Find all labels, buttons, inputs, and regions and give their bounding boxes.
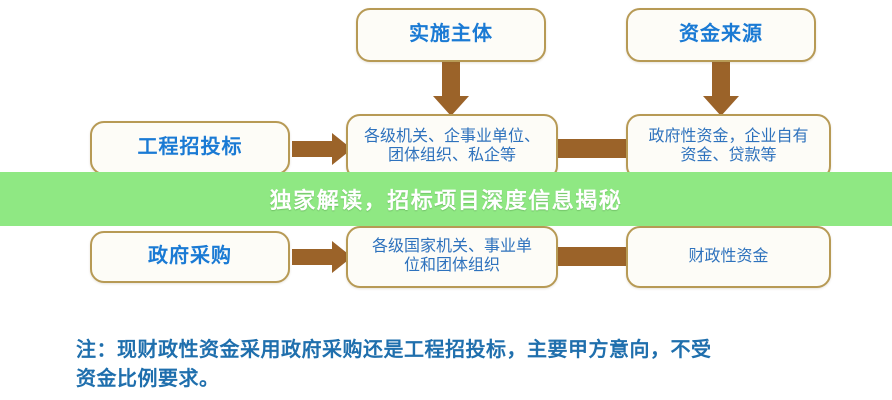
overlay-banner-text: 独家解读，招标项目深度信息揭秘 [270,183,623,215]
node-bidding-subjects-label: 各级机关、企事业单位、 团体组织、私企等 [358,128,546,166]
node-engineering-bidding-label: 工程招投标 [138,136,243,160]
node-bidding-funds-label: 政府性资金，企业自有 资金、贷款等 [642,128,814,166]
node-bidding-funds: 政府性资金，企业自有 资金、贷款等 [626,114,831,180]
node-procurement-subjects: 各级国家机关、事业单 位和团体组织 [346,226,558,288]
arrow-shaft [292,249,334,265]
node-funding-source-header-label: 资金来源 [679,23,763,47]
node-bidding-funds-line1: 政府性资金，企业自有 [648,128,808,145]
node-procurement-subjects-line1: 各级国家机关、事业单 [372,238,532,255]
node-procurement-subjects-label: 各级国家机关、事业单 位和团体组织 [366,238,538,276]
node-procurement-funds-label: 财政性资金 [682,248,774,267]
node-government-procurement: 政府采购 [90,231,290,283]
node-procurement-funds: 财政性资金 [626,226,831,288]
footer-note-line2: 资金比例要求。 [76,365,866,394]
diagram-canvas: 实施主体 资金来源 工程招投标 各级机关、企事业单位、 团体组织、私企等 政府性… [0,0,892,400]
node-bidding-subjects: 各级机关、企事业单位、 团体组织、私企等 [346,114,558,180]
arrow-shaft [292,141,334,157]
node-implementing-body-header-label: 实施主体 [409,23,493,47]
arrow-head [703,96,739,116]
footer-note-line1: 注：现财政性资金采用政府采购还是工程招投标，主要甲方意向，不受 [76,336,866,365]
footer-note: 注：现财政性资金采用政府采购还是工程招投标，主要甲方意向，不受 资金比例要求。 [76,336,866,394]
node-procurement-subjects-line2: 位和团体组织 [404,257,500,274]
arrow-shaft [712,62,730,98]
arrow-head [433,96,469,116]
node-engineering-bidding: 工程招投标 [90,121,290,175]
arrow-right-bidding-to-subjects [292,132,352,166]
node-implementing-body-header: 实施主体 [356,8,546,62]
connector-subjects-to-funds [554,139,634,158]
arrow-down-implementing-body [433,62,469,116]
node-bidding-subjects-line2: 团体组织、私企等 [388,147,516,164]
connector-procurement-subjects-to-funds [554,247,634,266]
node-bidding-subjects-line1: 各级机关、企事业单位、 [364,128,540,145]
overlay-banner: 独家解读，招标项目深度信息揭秘 [0,172,892,226]
arrow-shaft [442,62,460,98]
node-government-procurement-label: 政府采购 [148,245,232,269]
arrow-right-procurement-to-subjects [292,241,352,273]
node-bidding-funds-line2: 资金、贷款等 [680,147,776,164]
arrow-down-funding-source [703,62,739,116]
node-funding-source-header: 资金来源 [626,8,816,62]
